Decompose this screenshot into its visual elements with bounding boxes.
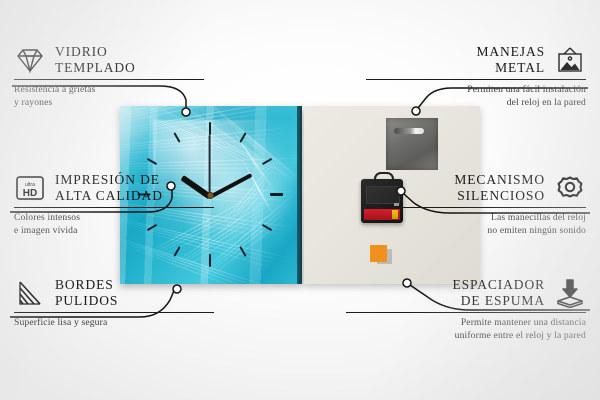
callout-title: MECANISMO SILENCIOSO (454, 172, 545, 204)
callout-mecanismo-silencioso: MECANISMO SILENCIOSO Las manecillas del … (366, 172, 586, 238)
picture-frame-icon (554, 45, 586, 75)
callout-header: ESPACIADOR DE ESPUMA (346, 277, 586, 309)
callout-vidrio-templado: VIDRIO TEMPLADO Resistencia a grietas y … (14, 44, 204, 110)
callout-header: ultra HD IMPRESIÓN DE ALTA CALIDAD (14, 172, 214, 204)
callout-header: MECANISMO SILENCIOSO (366, 172, 586, 204)
callout-divider (366, 79, 586, 81)
callout-bordes-pulidos: BORDES PULIDOS Superficie lisa y segura (14, 277, 214, 330)
clock-tick (209, 254, 211, 267)
callout-divider (366, 207, 586, 209)
callout-header: BORDES PULIDOS (14, 277, 214, 309)
glass-edge (297, 106, 302, 284)
hanger-keyhole-slot (394, 128, 424, 134)
callout-title: IMPRESIÓN DE ALTA CALIDAD (55, 172, 163, 204)
callout-divider (346, 312, 586, 314)
callout-title: VIDRIO TEMPLADO (55, 44, 136, 76)
ultra-hd-badge-icon: ultra HD (14, 173, 46, 203)
svg-text:HD: HD (23, 188, 37, 199)
polished-edges-icon (14, 278, 46, 308)
callout-espaciador-espuma: ESPACIADOR DE ESPUMA Permite mantener un… (346, 277, 586, 343)
callout-divider (14, 207, 214, 209)
callout-divider (14, 79, 204, 81)
callout-title: ESPACIADOR DE ESPUMA (452, 277, 545, 309)
metal-hanger-plate (386, 118, 438, 170)
gear-icon (554, 173, 586, 203)
foam-spacer-arrow-icon (554, 278, 586, 308)
clock-tick (209, 122, 211, 135)
callout-header: VIDRIO TEMPLADO (14, 44, 204, 76)
callout-divider (14, 312, 214, 314)
callout-title: BORDES PULIDOS (55, 277, 118, 309)
callout-impresion-alta-calidad: ultra HD IMPRESIÓN DE ALTA CALIDAD Color… (14, 172, 214, 238)
callout-title: MANEJAS METAL (476, 44, 545, 76)
foam-spacer (370, 245, 387, 262)
callout-header: MANEJAS METAL (366, 44, 586, 76)
callout-manejas-metal: MANEJAS METAL Permiten una fácil instala… (366, 44, 586, 110)
clock-tick (270, 193, 283, 196)
infographic-canvas: VIDRIO TEMPLADO Resistencia a grietas y … (0, 0, 600, 400)
diamond-icon (14, 45, 46, 75)
